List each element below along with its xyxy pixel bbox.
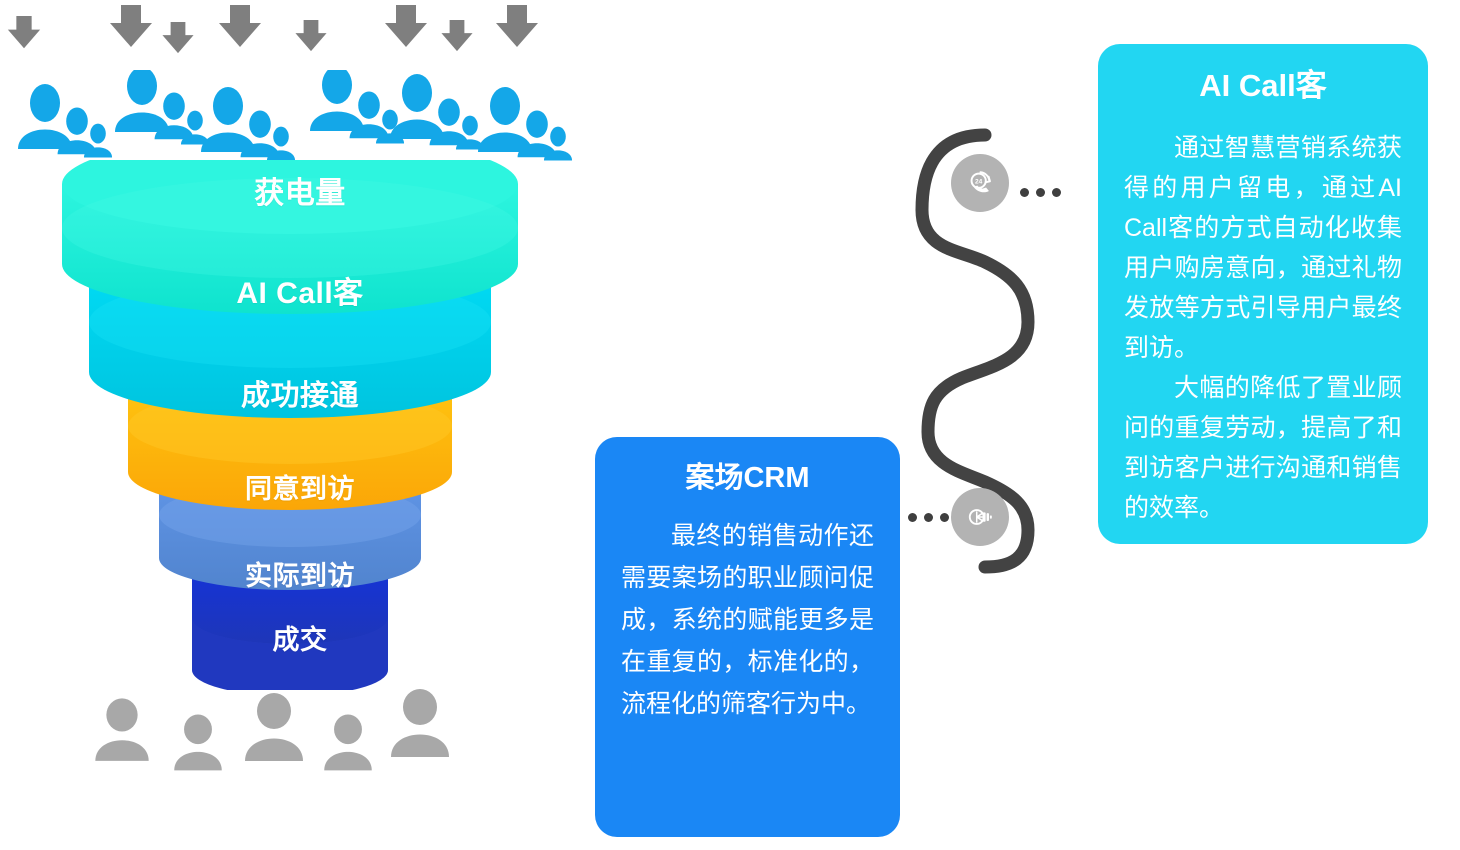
- lightbulb-idea-icon: [965, 502, 995, 532]
- funnel-stage-1: [62, 160, 518, 314]
- svg-text:24: 24: [975, 179, 983, 186]
- card-ai-call-body: 通过智慧营销系统获得的用户留电，通过AI Call客的方式自动化收集用户购房意向…: [1124, 128, 1402, 528]
- dot: [1020, 188, 1029, 197]
- process-flow-connector: 24: [900, 110, 1100, 590]
- dot: [908, 513, 917, 522]
- dot: [940, 513, 949, 522]
- dot: [1036, 188, 1045, 197]
- card-crm-paragraph-1: 最终的销售动作还需要案场的职业顾问促成，系统的赋能更多是在重复的，标准化的，流程…: [621, 515, 874, 725]
- converted-customers-group: [80, 675, 480, 780]
- conversion-funnel: 获电量 AI Call客 成功接通 同意到访 实际到访 成交: [40, 160, 560, 690]
- person-icon: [95, 689, 449, 770]
- flow-dots-top: [1020, 188, 1061, 197]
- card-crm-body: 最终的销售动作还需要案场的职业顾问促成，系统的赋能更多是在重复的，标准化的，流程…: [621, 515, 874, 725]
- node-lightbulb[interactable]: [951, 488, 1009, 546]
- flow-dots-bottom: [908, 513, 949, 522]
- card-ai-call-paragraph-2: 大幅的降低了置业顾问的重复劳动，提高了和到访客户进行沟通和销售的效率。: [1124, 368, 1402, 528]
- card-crm-title: 案场CRM: [621, 459, 874, 497]
- incoming-arrows-group: [0, 0, 600, 60]
- people-group-icon: [18, 70, 572, 160]
- dot: [1052, 188, 1061, 197]
- card-crm: 案场CRM 最终的销售动作还需要案场的职业顾问促成，系统的赋能更多是在重复的，标…: [595, 437, 900, 837]
- card-ai-call-paragraph-1: 通过智慧营销系统获得的用户留电，通过AI Call客的方式自动化收集用户购房意向…: [1124, 128, 1402, 368]
- card-ai-call-title: AI Call客: [1124, 66, 1402, 106]
- dot: [924, 513, 933, 522]
- phone-24h-support-icon: 24: [965, 168, 995, 198]
- card-ai-call: AI Call客 通过智慧营销系统获得的用户留电，通过AI Call客的方式自动…: [1098, 44, 1428, 544]
- arrow-down-icon: [8, 5, 538, 53]
- node-phone-24h[interactable]: 24: [951, 154, 1009, 212]
